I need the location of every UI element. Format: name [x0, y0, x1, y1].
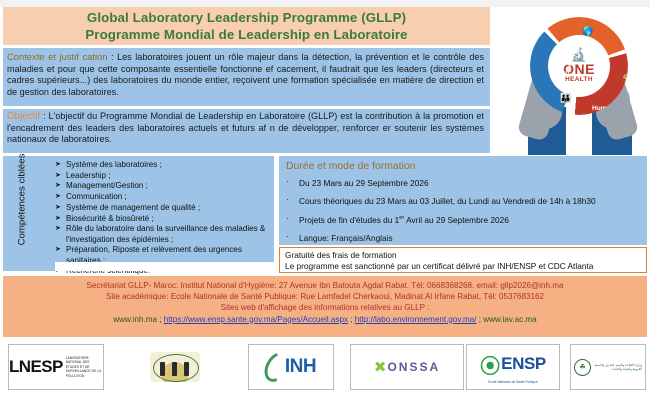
one-health-donut: 🔬 ONE HEALTH Environment Animals Humans …: [530, 17, 628, 115]
dot-bullet-icon: ·: [286, 231, 299, 242]
list-item-label: Management/Gestion ;: [66, 181, 270, 191]
onssa-wordmark: ONSSA: [387, 360, 440, 374]
logo-inh: INH: [248, 344, 334, 390]
onssa-logo-icon: ✖ONSSA: [374, 358, 440, 376]
objective-paragraph: Objectif : L'objectif du Programme Mondi…: [7, 111, 484, 146]
poster-root: Global Laboratory Leadership Programme (…: [0, 0, 650, 400]
ensp-logo-icon: ⦿ENSP Ecole Nationale de Santé Publique: [480, 350, 546, 384]
competences-panel: Compétences ciblées ➤Système des laborat…: [3, 156, 274, 271]
arrow-bullet-icon: ➤: [55, 203, 66, 213]
competences-list: ➤Système des laboratoires ; ➤Leadership …: [55, 160, 270, 277]
arrow-bullet-icon: ➤: [55, 192, 66, 202]
title-line-fr: Programme Mondial de Leadership en Labor…: [85, 26, 407, 43]
segment-label-humans: Humans: [592, 105, 618, 112]
lnesp-subtitle: LABORATOIRE NATIONAL DES ETUDES ET DE SU…: [66, 356, 103, 379]
top-border-strip: [0, 0, 650, 7]
arrow-bullet-icon: ➤: [55, 171, 66, 181]
context-separator: :: [107, 52, 117, 62]
iav-column-2: [172, 362, 177, 376]
one-health-logo-zone: 🔬 ONE HEALTH Environment Animals Humans …: [492, 7, 650, 153]
objective-label: Objectif: [7, 111, 40, 122]
list-item: ➤Biosécurité & biosûreté ;: [55, 214, 270, 224]
list-item-label: Leadership ;: [66, 171, 270, 181]
list-item-label: Rôle du laboratoire dans la surveillance…: [66, 224, 270, 245]
list-item: · Langue: Français/Anglais: [286, 231, 641, 244]
agri-logo-icon: ☘ وزارة الفلاحة والصيد البحري والتنمية ا…: [574, 359, 642, 376]
contact-line-sites-web: Sites web d'affichage des informations r…: [3, 302, 647, 313]
list-item: ➤Leadership ;: [55, 171, 270, 181]
link-ensp[interactable]: https://www.ensp.sante.gov.ma/Pages/Accu…: [164, 315, 348, 324]
logo-lnesp: LNESP LABORATOIRE NATIONAL DES ETUDES ET…: [8, 344, 104, 390]
onssa-x-icon: ✖: [374, 358, 387, 376]
list-item: ➤Communication ;: [55, 192, 270, 202]
title-line-en: Global Laboratory Leadership Programme (…: [87, 9, 406, 26]
health-label: HEALTH: [565, 77, 593, 83]
competences-vertical-label: Compétences ciblées: [17, 144, 28, 256]
dot-bullet-icon: ·: [286, 194, 299, 205]
arrow-bullet-icon: ➤: [55, 160, 66, 170]
agri-subtitle: وزارة الفلاحة والصيد البحري والتنمية الق…: [594, 363, 642, 372]
logo-ensp: ⦿ENSP Ecole Nationale de Santé Publique: [466, 344, 560, 390]
ensp-swoosh-icon: ⦿: [480, 350, 500, 379]
context-label: Contexte et justif cation: [7, 51, 107, 62]
link-inh[interactable]: www.inh.ma: [113, 315, 157, 324]
one-health-logo: 🔬 ONE HEALTH Environment Animals Humans …: [500, 11, 642, 153]
contact-links-row: www.inh.ma ; https://www.ensp.sante.gov.…: [3, 314, 647, 325]
logo-ministere-agriculture: ☘ وزارة الفلاحة والصيد البحري والتنمية ا…: [570, 344, 646, 390]
list-item-label: Système de management de qualité ;: [66, 203, 270, 213]
logo-onssa: ✖ONSSA: [350, 344, 464, 390]
ensp-wordmark: ENSP: [501, 354, 546, 374]
link-separator: ;: [348, 315, 355, 324]
link-labo-environnement[interactable]: http://labo.environnement.gov.ma/: [355, 315, 477, 324]
lnesp-logo-icon: LNESP LABORATOIRE NATIONAL DES ETUDES ET…: [9, 356, 103, 379]
lnesp-wordmark: LNESP: [9, 357, 63, 377]
list-item-label: Langue: Français/Anglais: [299, 231, 641, 244]
contact-band: Secrétariat GLLP- Maroc: Institut Nation…: [3, 276, 647, 337]
contact-line-secretariat: Secrétariat GLLP- Maroc: Institut Nation…: [3, 280, 647, 291]
list-item: · Du 23 Mars au 29 Septembre 2026: [286, 176, 641, 189]
list-item-label: Cours théoriques du 23 Mars au 03 Juille…: [299, 194, 641, 207]
arrow-bullet-icon: ➤: [55, 214, 66, 224]
iav-emblem-icon: [150, 352, 200, 382]
arrow-bullet-icon: ➤: [55, 245, 66, 255]
contact-line-site-academique: Site académique: Ecole Nationale de Sant…: [3, 291, 647, 302]
list-item: · Projets de fin d'études du 1er Avril a…: [286, 213, 641, 226]
list-item-label: Communication ;: [66, 192, 270, 202]
logo-iav-hassan-ii: [132, 344, 218, 390]
duree-title: Durée et mode de formation: [286, 160, 641, 173]
iav-column-3: [184, 362, 189, 376]
context-band: Contexte et justif cation : Les laborato…: [3, 48, 490, 106]
gratuite-line-1: Gratuité des frais de formation: [285, 250, 642, 261]
list-item: ➤Rôle du laboratoire dans la surveillanc…: [55, 224, 270, 245]
gratuite-box: Gratuité des frais de formation Le progr…: [279, 247, 647, 273]
list-item: ➤Système de management de qualité ;: [55, 203, 270, 213]
ensp-subtitle: Ecole Nationale de Santé Publique: [480, 380, 546, 384]
agri-seal-icon: ☘: [574, 359, 591, 376]
list-item: · Cours théoriques du 23 Mars au 03 Juil…: [286, 194, 641, 207]
title-band: Global Laboratory Leadership Programme (…: [3, 7, 490, 45]
gratuite-line-2: Le programme est sanctionné par un certi…: [285, 261, 642, 272]
objective-band: Objectif : L'objectif du Programme Mondi…: [3, 109, 490, 153]
arrow-bullet-icon: ➤: [55, 181, 66, 191]
list-item-label: Du 23 Mars au 29 Septembre 2026: [299, 176, 641, 189]
list-item-label: Système des laboratoires ;: [66, 160, 270, 170]
list-item: ➤Management/Gestion ;: [55, 181, 270, 191]
link-separator: ;: [157, 315, 164, 324]
dot-bullet-icon: ·: [286, 213, 299, 224]
family-icon: 👪: [560, 93, 571, 104]
iav-column-1: [160, 362, 165, 376]
animals-icon: 🐒: [622, 73, 628, 84]
list-item-label: Biosécurité & biosûreté ;: [66, 214, 270, 224]
context-paragraph: Contexte et justif cation : Les laborato…: [7, 51, 484, 98]
list-item-label: Projets de fin d'études du 1er Avril au …: [299, 213, 641, 226]
ensp-top-row: ⦿ENSP: [480, 350, 546, 379]
dot-bullet-icon: ·: [286, 176, 299, 187]
link-iav[interactable]: www.iav.ac.ma: [483, 315, 536, 324]
objective-separator: :: [40, 111, 48, 121]
objective-text: L'objectif du Programme Mondial de Leade…: [7, 111, 484, 144]
competences-panel-whitespace: [55, 262, 274, 271]
arrow-bullet-icon: ➤: [55, 224, 66, 234]
footer-logos: LNESP LABORATOIRE NATIONAL DES ETUDES ET…: [0, 340, 650, 400]
duree-panel: Durée et mode de formation · Du 23 Mars …: [279, 156, 647, 245]
globe-icon: 🌎: [582, 26, 593, 37]
list-item: ➤Système des laboratoires ;: [55, 160, 270, 170]
